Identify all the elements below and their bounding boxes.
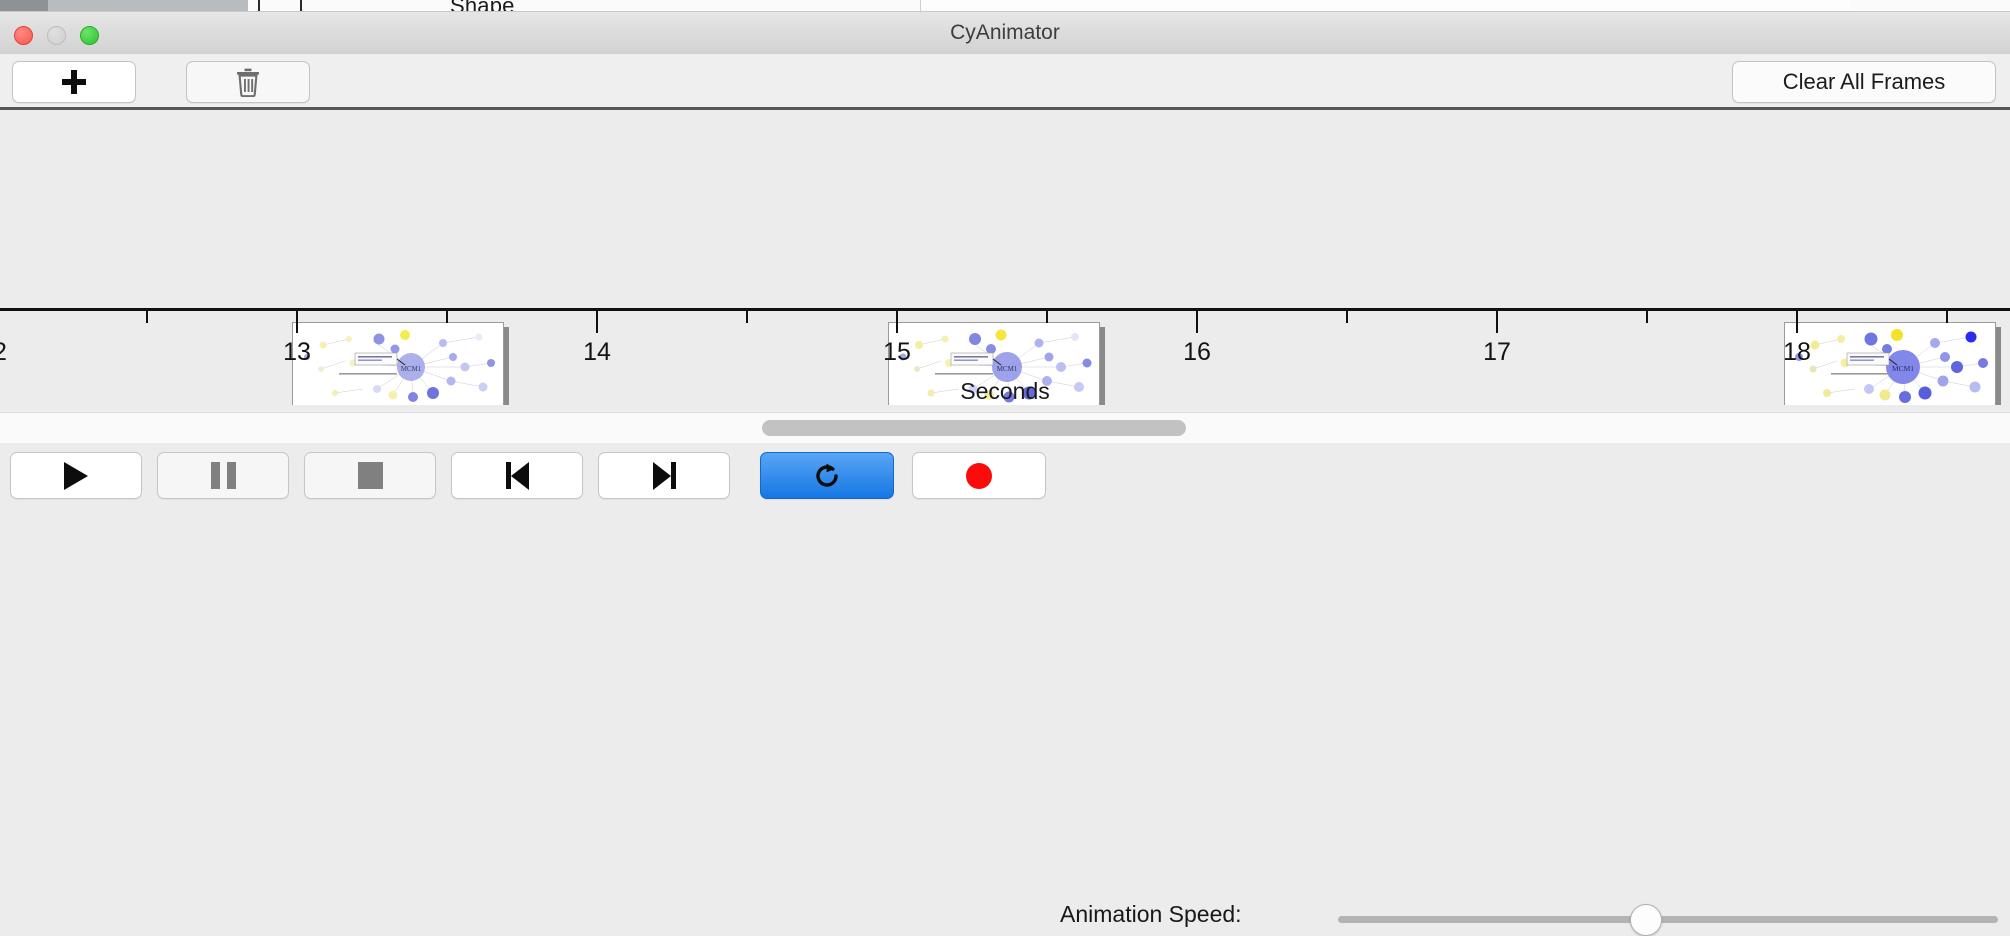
axis-tick-minor: [446, 311, 448, 323]
axis-tick-major: [896, 311, 898, 333]
axis-tick-label: 16: [1172, 338, 1222, 367]
animation-speed-label: Animation Speed:: [1060, 901, 1242, 928]
play-icon: [64, 462, 88, 490]
cyanimator-window: Shape CyAnimator Clear All Frames: [0, 0, 2010, 510]
axis-tick-label: 18: [1772, 338, 1822, 367]
animation-speed-slider-thumb[interactable]: [1630, 904, 1662, 936]
scrollbar-thumb[interactable]: [762, 420, 1186, 436]
clear-all-frames-button[interactable]: Clear All Frames: [1732, 61, 1996, 103]
animation-speed-slider[interactable]: [1338, 916, 1998, 923]
axis-tick-minor: [1946, 311, 1948, 323]
svg-text:MCM1: MCM1: [1892, 364, 1914, 373]
add-frame-button[interactable]: [12, 61, 136, 103]
timeline-scrollbar[interactable]: [0, 412, 2010, 444]
previous-frame-button[interactable]: [451, 452, 583, 499]
axis-tick-label: 15: [872, 338, 922, 367]
trash-icon: [235, 67, 261, 97]
delete-frame-button[interactable]: [186, 61, 310, 103]
stop-button[interactable]: [304, 452, 436, 499]
axis-tick-label: 13: [272, 338, 322, 367]
axis-tick-label: 17: [1472, 338, 1522, 367]
title-bar: CyAnimator: [0, 12, 2010, 55]
axis-tick-label: 14: [572, 338, 622, 367]
axis-tick-minor: [1346, 311, 1348, 323]
skip-back-icon: [506, 462, 529, 490]
svg-text:MCM1: MCM1: [997, 365, 1018, 373]
axis-title: Seconds: [0, 378, 2010, 405]
window-title: CyAnimator: [0, 12, 2010, 54]
axis-tick-minor: [1046, 311, 1048, 323]
record-icon: [966, 463, 992, 489]
axis-tick-minor: [1646, 311, 1648, 323]
stop-icon: [358, 462, 383, 489]
pause-button[interactable]: [157, 452, 289, 499]
axis-tick-label: 2: [0, 338, 12, 367]
axis-tick-major: [296, 311, 298, 333]
skip-forward-icon: [653, 462, 676, 490]
timeline-axis: [0, 308, 2010, 311]
axis-tick-major: [1796, 311, 1798, 333]
svg-text:MCM1: MCM1: [401, 365, 422, 373]
axis-tick-minor: [146, 311, 148, 323]
axis-tick-minor: [746, 311, 748, 323]
loop-button[interactable]: [760, 452, 894, 499]
play-button[interactable]: [10, 452, 142, 499]
loop-icon: [812, 461, 842, 491]
next-frame-button[interactable]: [598, 452, 730, 499]
pause-icon: [211, 462, 236, 489]
plus-icon: [62, 70, 86, 94]
axis-tick-major: [1196, 311, 1198, 333]
axis-tick-major: [1496, 311, 1498, 333]
frame-toolbar: Clear All Frames: [0, 54, 2010, 108]
transport-bar: Animation Speed:: [0, 443, 2010, 510]
record-button[interactable]: [912, 452, 1046, 499]
axis-tick-major: [596, 311, 598, 333]
